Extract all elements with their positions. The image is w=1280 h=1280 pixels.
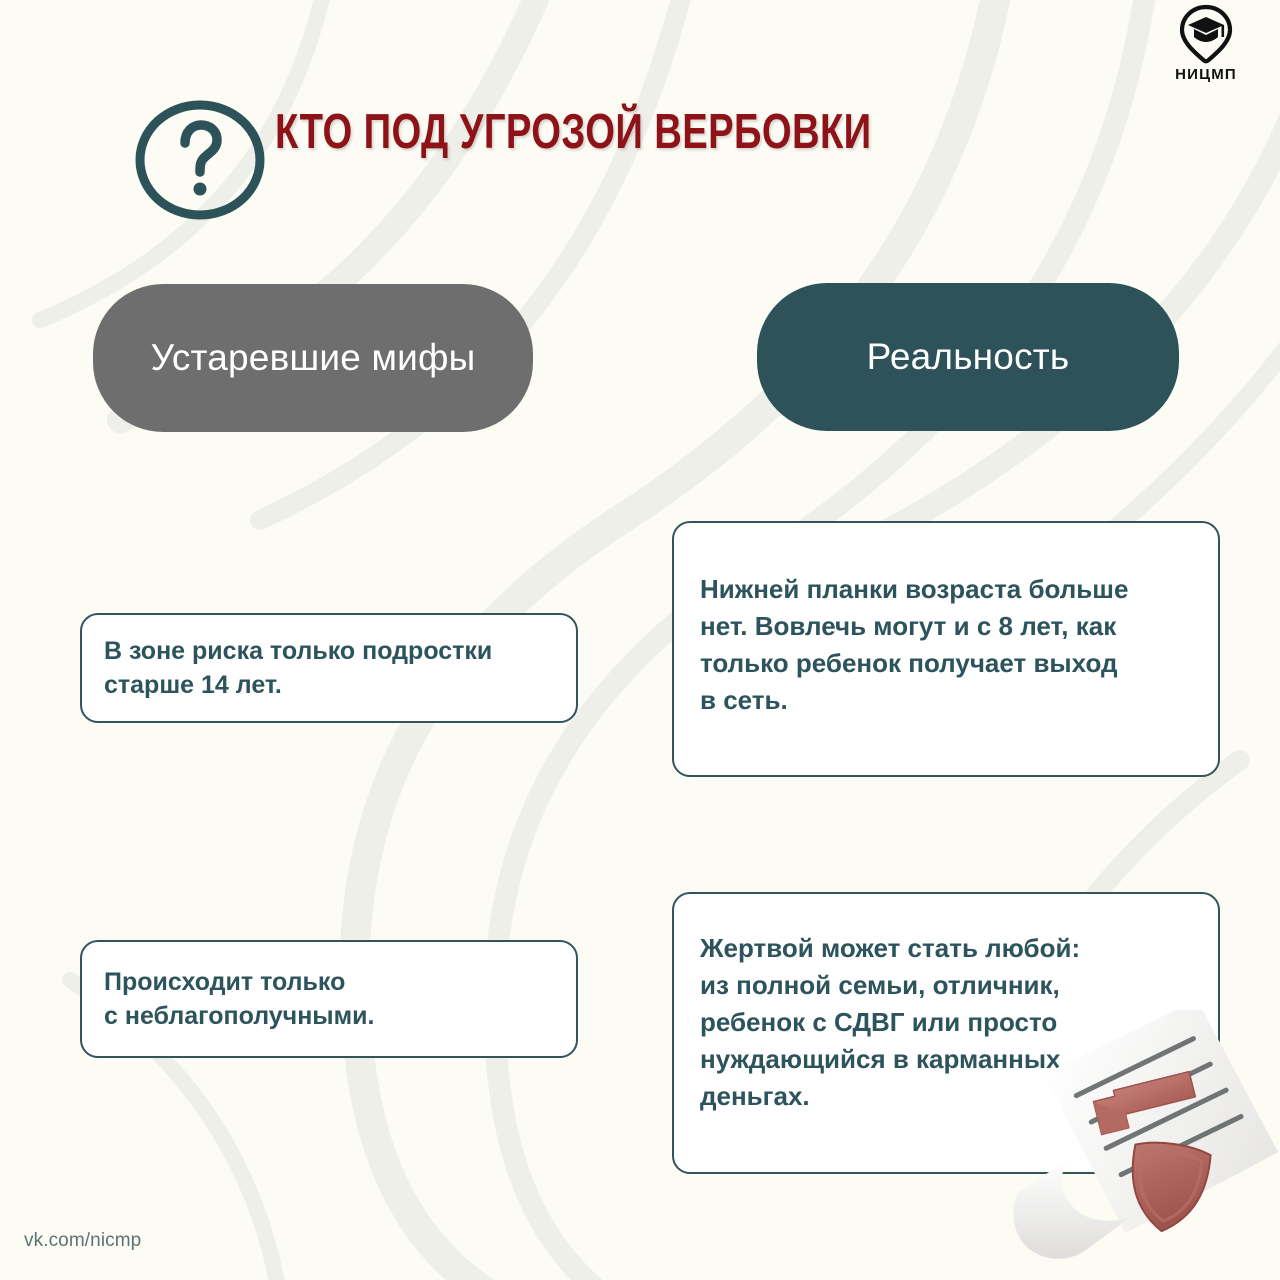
logo-wordmark: НИЦМП: [1175, 66, 1237, 83]
column-header-myths-label: Устаревшие мифы: [151, 337, 476, 379]
question-mark-circle-icon: [130, 98, 270, 222]
brand-logo: НИЦМП: [1160, 4, 1252, 90]
reality-card-text: Нижней планки возраста больше нет. Вовле…: [674, 523, 1154, 719]
myth-card-text: Происходит только с неблагополучными.: [82, 965, 396, 1034]
myth-card: В зоне риска только подростки старше 14 …: [80, 613, 578, 723]
infographic-canvas: НИЦМП КТО ПОД УГРОЗОЙ ВЕРБОВКИ Устаревши…: [0, 0, 1280, 1280]
column-header-myths: Устаревшие мифы: [93, 284, 533, 432]
graduation-cap-pin-icon: [1174, 4, 1238, 64]
footer-vk-link[interactable]: vk.com/nicmp: [24, 1230, 141, 1252]
reality-card: Жертвой может стать любой: из полной сем…: [672, 892, 1220, 1174]
reality-card: Нижней планки возраста больше нет. Вовле…: [672, 521, 1220, 777]
reality-card-text: Жертвой может стать любой: из полной сем…: [674, 894, 1106, 1115]
column-header-reality-label: Реальность: [867, 336, 1070, 378]
myth-card-text: В зоне риска только подростки старше 14 …: [82, 634, 514, 703]
column-header-reality: Реальность: [757, 283, 1179, 431]
page-title: КТО ПОД УГРОЗОЙ ВЕРБОВКИ: [275, 104, 872, 160]
myth-card: Происходит только с неблагополучными.: [80, 940, 578, 1058]
